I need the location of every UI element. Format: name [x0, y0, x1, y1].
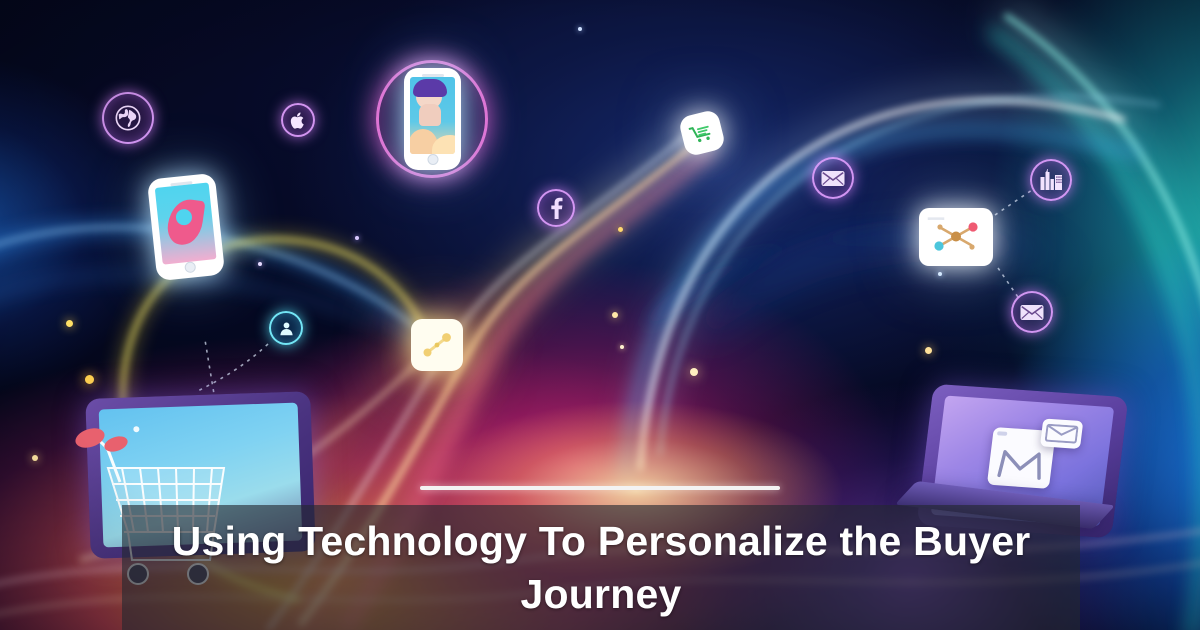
title-overlay: Using Technology To Personalize the Buye…	[122, 505, 1080, 630]
title-divider	[420, 486, 780, 490]
page-title: Using Technology To Personalize the Buye…	[136, 515, 1066, 620]
hero-banner: Using Technology To Personalize the Buye…	[0, 0, 1200, 630]
